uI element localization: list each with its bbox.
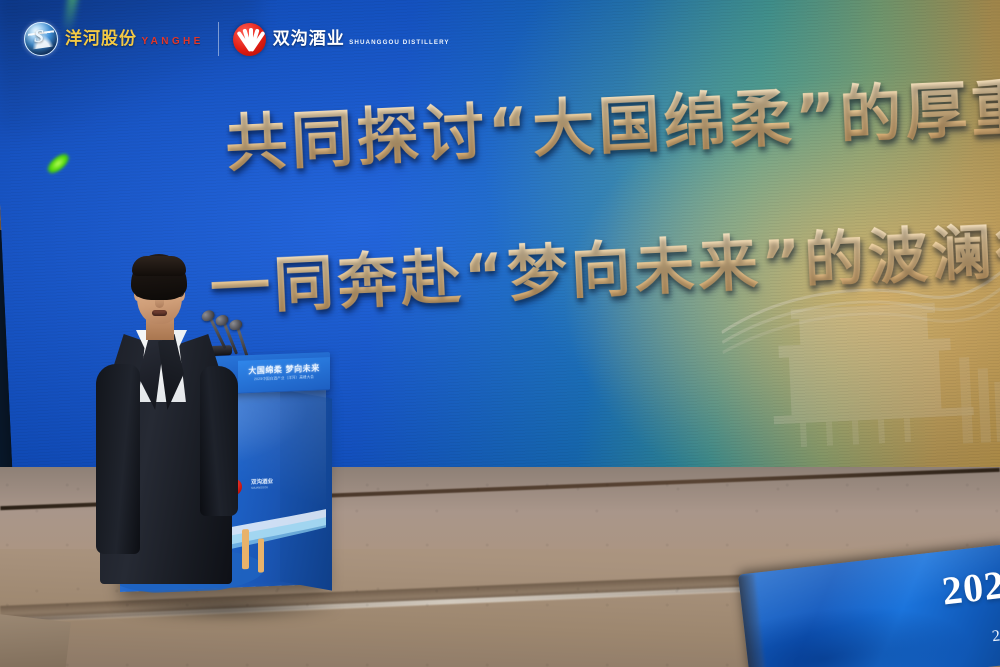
speaker-hair-fringe [132,256,186,276]
podium-shuanggou-label: 双沟酒业SHUANGGOU [251,479,273,492]
brand-bar: 洋河股份 YANGHE 双沟酒业 SHUANGGOU DISTILLERY [24,22,450,56]
event-board-year: 202 [940,561,1000,615]
shuanggou-logo-text: 双沟酒业 SHUANGGOU DISTILLERY [273,31,450,48]
stage-photo-scene: 共同探讨“大国绵柔”的厚重底蕴 一同奔赴“梦向未来”的波澜征程 [0,0,1000,667]
shuanggou-name-cn: 双沟酒业 [273,29,345,49]
yanghe-logo: 洋河股份 YANGHE [24,22,204,56]
speaker-mouth [152,310,167,316]
speaker-arm-right [200,366,238,516]
shuanggou-emblem-icon [233,23,266,56]
speaker [96,254,246,626]
headline-line-2: 一同奔赴“梦向未来”的波澜征程 [208,198,1000,327]
brand-divider [218,22,219,56]
yanghe-name-cn: 洋河股份 [65,29,137,49]
shuanggou-name-en: SHUANGGOU DISTILLERY [349,39,450,46]
yanghe-name-en: YANGHE [141,36,203,47]
shuanggou-logo: 双沟酒业 SHUANGGOU DISTILLERY [233,23,450,56]
headline-line-1: 共同探讨“大国绵柔”的厚重底蕴 [223,50,1000,184]
event-board-subline: 2C [991,626,1000,646]
yanghe-emblem-icon [24,22,58,56]
stage-riser-block [0,612,71,667]
speaker-arm-left [96,364,140,554]
podium-name-plate: 大国绵柔 梦向未来 2025中国白酒产业（洋河）高峰大会 [238,357,330,393]
yanghe-logo-text: 洋河股份 YANGHE [65,31,204,48]
